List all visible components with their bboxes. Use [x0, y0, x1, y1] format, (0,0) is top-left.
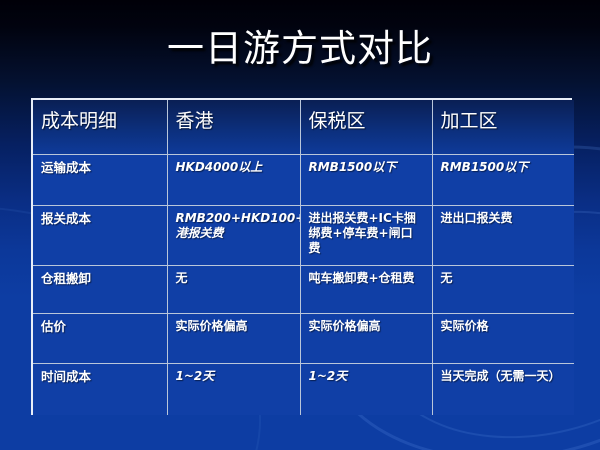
- slide-title: 一日游方式对比: [0, 27, 600, 71]
- table-header-row: 成本明细 香港 保税区 加工区: [33, 100, 574, 154]
- cell-valuation-hongkong: 实际价格偏高: [167, 313, 300, 363]
- cell-storage-processing: 无: [432, 265, 574, 313]
- table-header-hongkong: 香港: [167, 100, 300, 154]
- cell-storage-bonded: 吨车搬卸费+仓租费: [300, 265, 432, 313]
- table-row: 报关成本 RMB200+HKD100+香港报关费 进出报关费+IC卡捆绑费+停车…: [33, 205, 574, 265]
- row-label-storage-handling: 仓租搬卸: [33, 265, 167, 313]
- cell-storage-hongkong: 无: [167, 265, 300, 313]
- table-header-processing-zone: 加工区: [432, 100, 574, 154]
- cell-declaration-bonded: 进出报关费+IC卡捆绑费+停车费+闸口费: [300, 205, 432, 265]
- row-label-time-cost: 时间成本: [33, 363, 167, 415]
- row-label-transport-cost: 运输成本: [33, 154, 167, 205]
- cell-time-hongkong: 1~2天: [167, 363, 300, 415]
- comparison-table: 成本明细 香港 保税区 加工区 运输成本 HKD4000以上 RMB1500以下…: [33, 100, 574, 415]
- table-header-cost-detail: 成本明细: [33, 100, 167, 154]
- table-row: 运输成本 HKD4000以上 RMB1500以下 RMB1500以下: [33, 154, 574, 205]
- table-row: 时间成本 1~2天 1~2天 当天完成（无需一天）: [33, 363, 574, 415]
- slide-canvas: 一日游方式对比 成本明细 香港 保税区 加工区 运输成本 HKD4000以上 R…: [0, 0, 600, 450]
- cell-valuation-processing: 实际价格: [432, 313, 574, 363]
- row-label-valuation: 估价: [33, 313, 167, 363]
- table-row: 仓租搬卸 无 吨车搬卸费+仓租费 无: [33, 265, 574, 313]
- table-header-bonded-zone: 保税区: [300, 100, 432, 154]
- row-label-declaration-cost: 报关成本: [33, 205, 167, 265]
- cell-transport-bonded: RMB1500以下: [300, 154, 432, 205]
- cell-valuation-bonded: 实际价格偏高: [300, 313, 432, 363]
- comparison-table-container: 成本明细 香港 保税区 加工区 运输成本 HKD4000以上 RMB1500以下…: [31, 98, 572, 415]
- table-row: 估价 实际价格偏高 实际价格偏高 实际价格: [33, 313, 574, 363]
- cell-time-processing: 当天完成（无需一天）: [432, 363, 574, 415]
- cell-declaration-processing: 进出口报关费: [432, 205, 574, 265]
- cell-transport-processing: RMB1500以下: [432, 154, 574, 205]
- cell-transport-hongkong: HKD4000以上: [167, 154, 300, 205]
- cell-time-bonded: 1~2天: [300, 363, 432, 415]
- cell-declaration-hongkong: RMB200+HKD100+香港报关费: [167, 205, 300, 265]
